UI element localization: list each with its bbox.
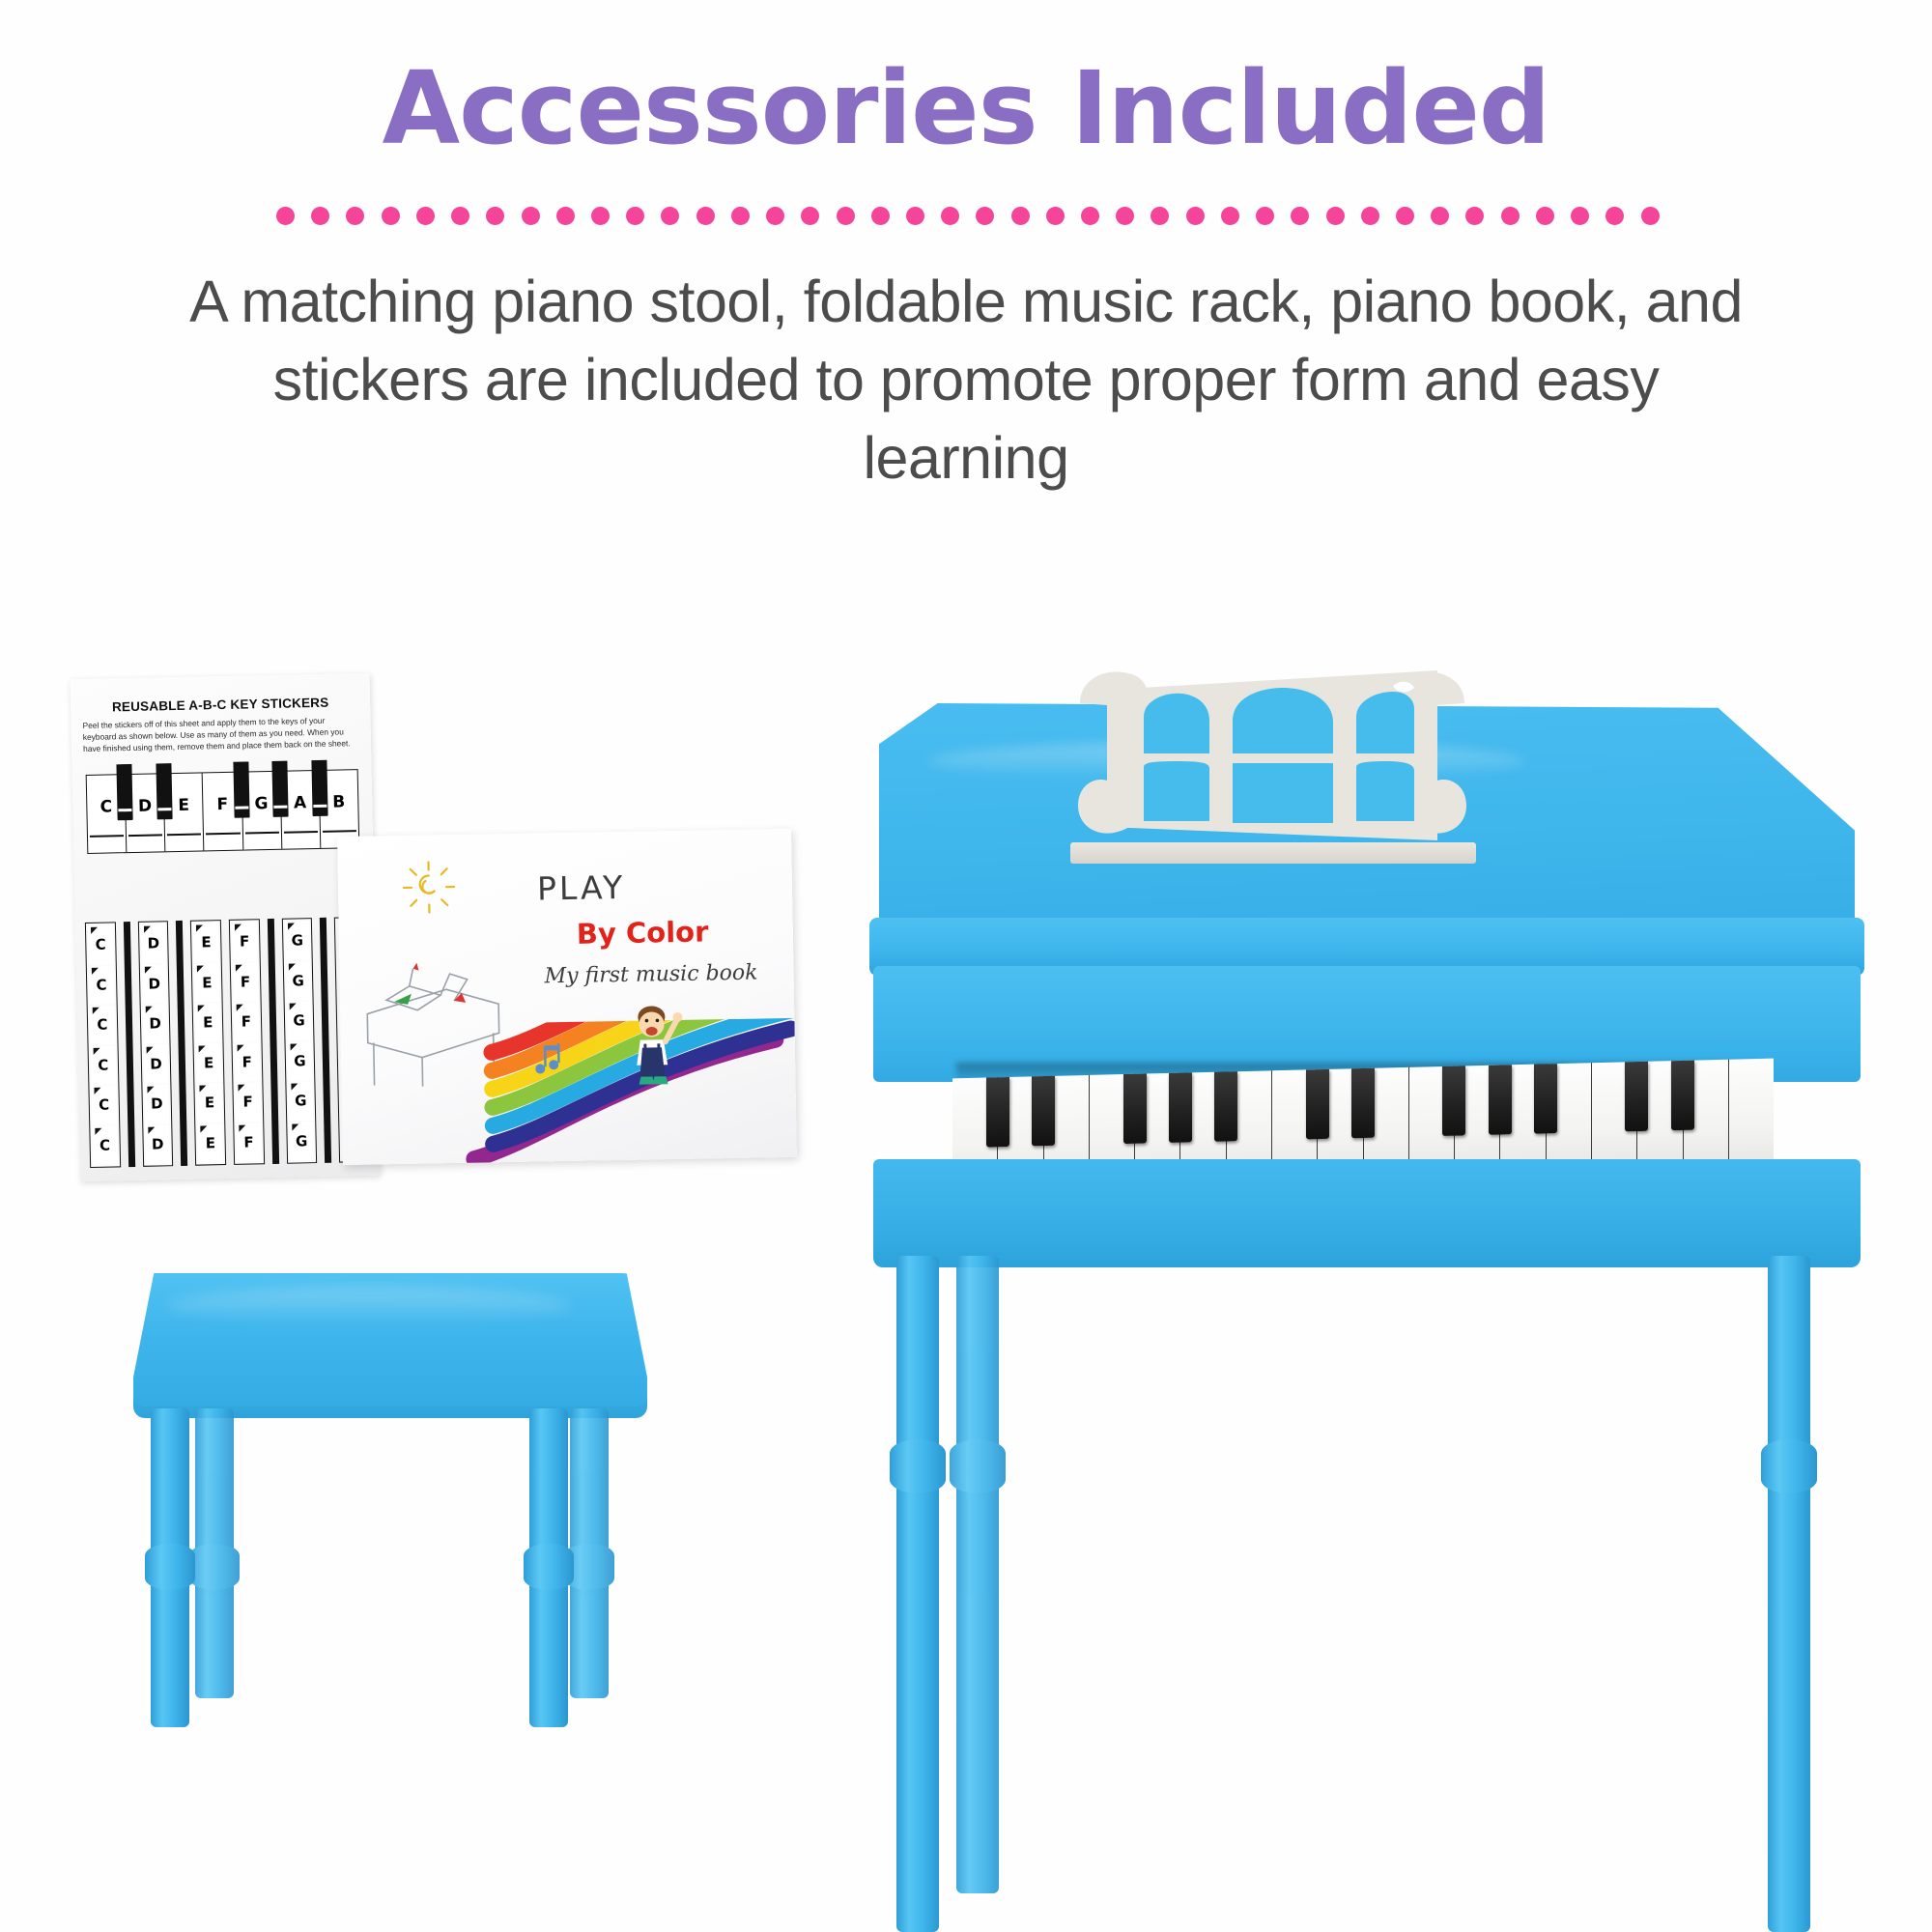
black-key <box>117 764 133 820</box>
black-key <box>272 760 289 816</box>
piano-black-key[interactable] <box>1214 1071 1237 1142</box>
key-sticker[interactable]: D <box>141 923 167 963</box>
sticker-black-key-gap <box>176 921 187 1166</box>
key-sticker[interactable]: C <box>90 1005 116 1044</box>
piano-black-key[interactable] <box>1032 1076 1055 1147</box>
sticker-sheet-keyboard-diagram: CDEFGAB <box>85 759 359 854</box>
piano-black-key[interactable] <box>1306 1069 1329 1140</box>
divider-dot <box>837 207 855 225</box>
divider-dot <box>556 207 575 225</box>
divider-dot <box>346 207 364 225</box>
black-key <box>311 760 327 816</box>
divider-dot <box>1116 207 1134 225</box>
key-sticker[interactable]: D <box>142 1004 168 1043</box>
piano-black-key[interactable] <box>1625 1062 1648 1132</box>
divider-dot <box>1465 207 1484 225</box>
divider-dot <box>1396 207 1414 225</box>
divider-dot <box>871 207 890 225</box>
key-sticker[interactable]: E <box>193 923 219 962</box>
piano-leg-front-left <box>896 1256 939 1932</box>
divider-dot <box>1536 207 1554 225</box>
sticker-black-key-gap <box>268 919 279 1164</box>
piano-leg-front-right <box>1768 1256 1810 1932</box>
key-sticker[interactable]: D <box>144 1084 170 1123</box>
piano-black-key[interactable] <box>1534 1064 1557 1134</box>
stool-leg-rear-right <box>570 1408 609 1698</box>
divider-dot <box>382 207 400 225</box>
divider-dot <box>906 207 924 225</box>
divider-dot <box>1081 207 1099 225</box>
divider-dot <box>1221 207 1239 225</box>
divider-dot <box>1361 207 1379 225</box>
infographic-page: Accessories Included A matching piano st… <box>0 0 1932 1932</box>
divider-dot <box>1641 207 1660 225</box>
dotted-divider-icon <box>276 205 1660 226</box>
toy-grand-piano <box>860 676 1874 1864</box>
sticker-grid: CCCCCCDDDDDDEEEEEEFFFFFFGGGGGGAAAAAA <box>85 917 370 1168</box>
foldable-music-rack <box>1074 661 1470 850</box>
key-sticker[interactable]: D <box>141 964 167 1004</box>
stool-leg-front-right <box>529 1408 568 1727</box>
divider-dot <box>1291 207 1309 225</box>
sticker-sheet-instructions: Peel the stickers off of this sheet and … <box>82 715 359 755</box>
key-sticker[interactable]: F <box>235 1082 261 1122</box>
sticker-sheet: REUSABLE A-B-C KEY STICKERS Peel the sti… <box>71 673 381 1181</box>
piano-black-key[interactable] <box>1123 1073 1147 1144</box>
key-sticker[interactable]: F <box>234 1002 260 1041</box>
key-sticker[interactable]: C <box>91 1045 117 1085</box>
music-rack-base <box>1070 842 1476 864</box>
key-sticker[interactable]: D <box>143 1044 169 1084</box>
divider-dot <box>731 207 750 225</box>
sun-icon <box>397 856 460 919</box>
divider-dot <box>1256 207 1274 225</box>
sticker-sheet-title: REUSABLE A-B-C KEY STICKERS <box>80 695 360 715</box>
black-key <box>234 761 250 817</box>
key-sticker[interactable]: G <box>286 1001 312 1040</box>
page-title: Accessories Included <box>0 56 1932 161</box>
piano-leg-rear-left <box>956 1256 999 1893</box>
sticker-column: FFFFFF <box>229 919 265 1165</box>
divider-dot <box>661 207 679 225</box>
key-sticker[interactable]: E <box>196 1043 222 1083</box>
child-illustration <box>614 1001 690 1094</box>
key-sticker[interactable]: E <box>195 1003 221 1042</box>
divider-dot <box>1571 207 1589 225</box>
stool-highlight <box>166 1287 572 1325</box>
piano-black-key[interactable] <box>1489 1065 1512 1135</box>
key-sticker[interactable]: G <box>285 961 311 1001</box>
divider-dot <box>976 207 994 225</box>
divider-dot <box>451 207 469 225</box>
sticker-column: GGGGGG <box>282 918 318 1164</box>
divider-dot <box>801 207 819 225</box>
stool-seat <box>133 1273 647 1406</box>
divider-dot <box>941 207 959 225</box>
divider-dot <box>1605 207 1624 225</box>
divider-dot <box>591 207 610 225</box>
key-sticker[interactable]: D <box>145 1124 171 1164</box>
key-sticker[interactable]: G <box>287 1041 313 1081</box>
book-title: PLAY <box>537 868 626 908</box>
key-sticker[interactable]: C <box>88 924 114 964</box>
key-sticker[interactable]: F <box>232 922 258 961</box>
page-subtitle: A matching piano stool, foldable music r… <box>184 263 1748 497</box>
key-sticker[interactable]: E <box>197 1083 223 1122</box>
key-sticker[interactable]: C <box>92 1125 118 1165</box>
book-subtitle: By Color <box>577 915 709 950</box>
key-sticker[interactable]: G <box>289 1122 315 1161</box>
sticker-column: EEEEEE <box>190 920 226 1166</box>
piano-black-key[interactable] <box>1442 1065 1465 1136</box>
key-sticker[interactable]: C <box>89 965 115 1005</box>
piano-case-bottom <box>873 1159 1861 1267</box>
divider-dot <box>1431 207 1449 225</box>
sticker-column: DDDDDD <box>138 921 174 1167</box>
divider-dot <box>1186 207 1205 225</box>
music-book-cover: PLAY By Color My first music book <box>337 829 797 1165</box>
piano-black-key[interactable] <box>1351 1068 1375 1139</box>
keyboard-black-keys <box>85 759 358 821</box>
divider-dot <box>1011 207 1030 225</box>
key-sticker[interactable]: F <box>233 962 259 1002</box>
divider-dot <box>486 207 504 225</box>
sticker-column: CCCCCC <box>85 922 121 1168</box>
stool-leg-rear-left <box>195 1408 234 1698</box>
key-sticker[interactable]: F <box>235 1042 261 1082</box>
key-sticker[interactable]: E <box>198 1123 224 1163</box>
key-sticker[interactable]: G <box>288 1081 314 1121</box>
book-tagline: My first music book <box>544 961 757 989</box>
piano-stool <box>133 1273 674 1853</box>
sticker-black-key-gap <box>124 922 135 1167</box>
key-sticker[interactable]: G <box>285 921 311 960</box>
piano-black-key[interactable] <box>1169 1072 1192 1143</box>
divider-dot <box>766 207 784 225</box>
divider-dot <box>696 207 715 225</box>
divider-dot <box>522 207 540 225</box>
divider-dot <box>1046 207 1065 225</box>
divider-dot <box>1501 207 1520 225</box>
key-sticker[interactable]: C <box>91 1085 117 1124</box>
divider-dot <box>311 207 329 225</box>
key-sticker[interactable]: E <box>194 963 220 1003</box>
piano-black-key[interactable] <box>1671 1061 1694 1131</box>
divider-dot <box>276 207 295 225</box>
key-sticker[interactable]: F <box>236 1122 262 1162</box>
black-key <box>156 763 172 819</box>
stool-leg-front-left <box>151 1408 189 1727</box>
sticker-black-key-gap <box>320 918 331 1163</box>
divider-dot <box>626 207 644 225</box>
piano-black-key[interactable] <box>986 1077 1009 1148</box>
divider-dot <box>1151 207 1169 225</box>
divider-dot <box>1326 207 1345 225</box>
divider-dot <box>416 207 435 225</box>
